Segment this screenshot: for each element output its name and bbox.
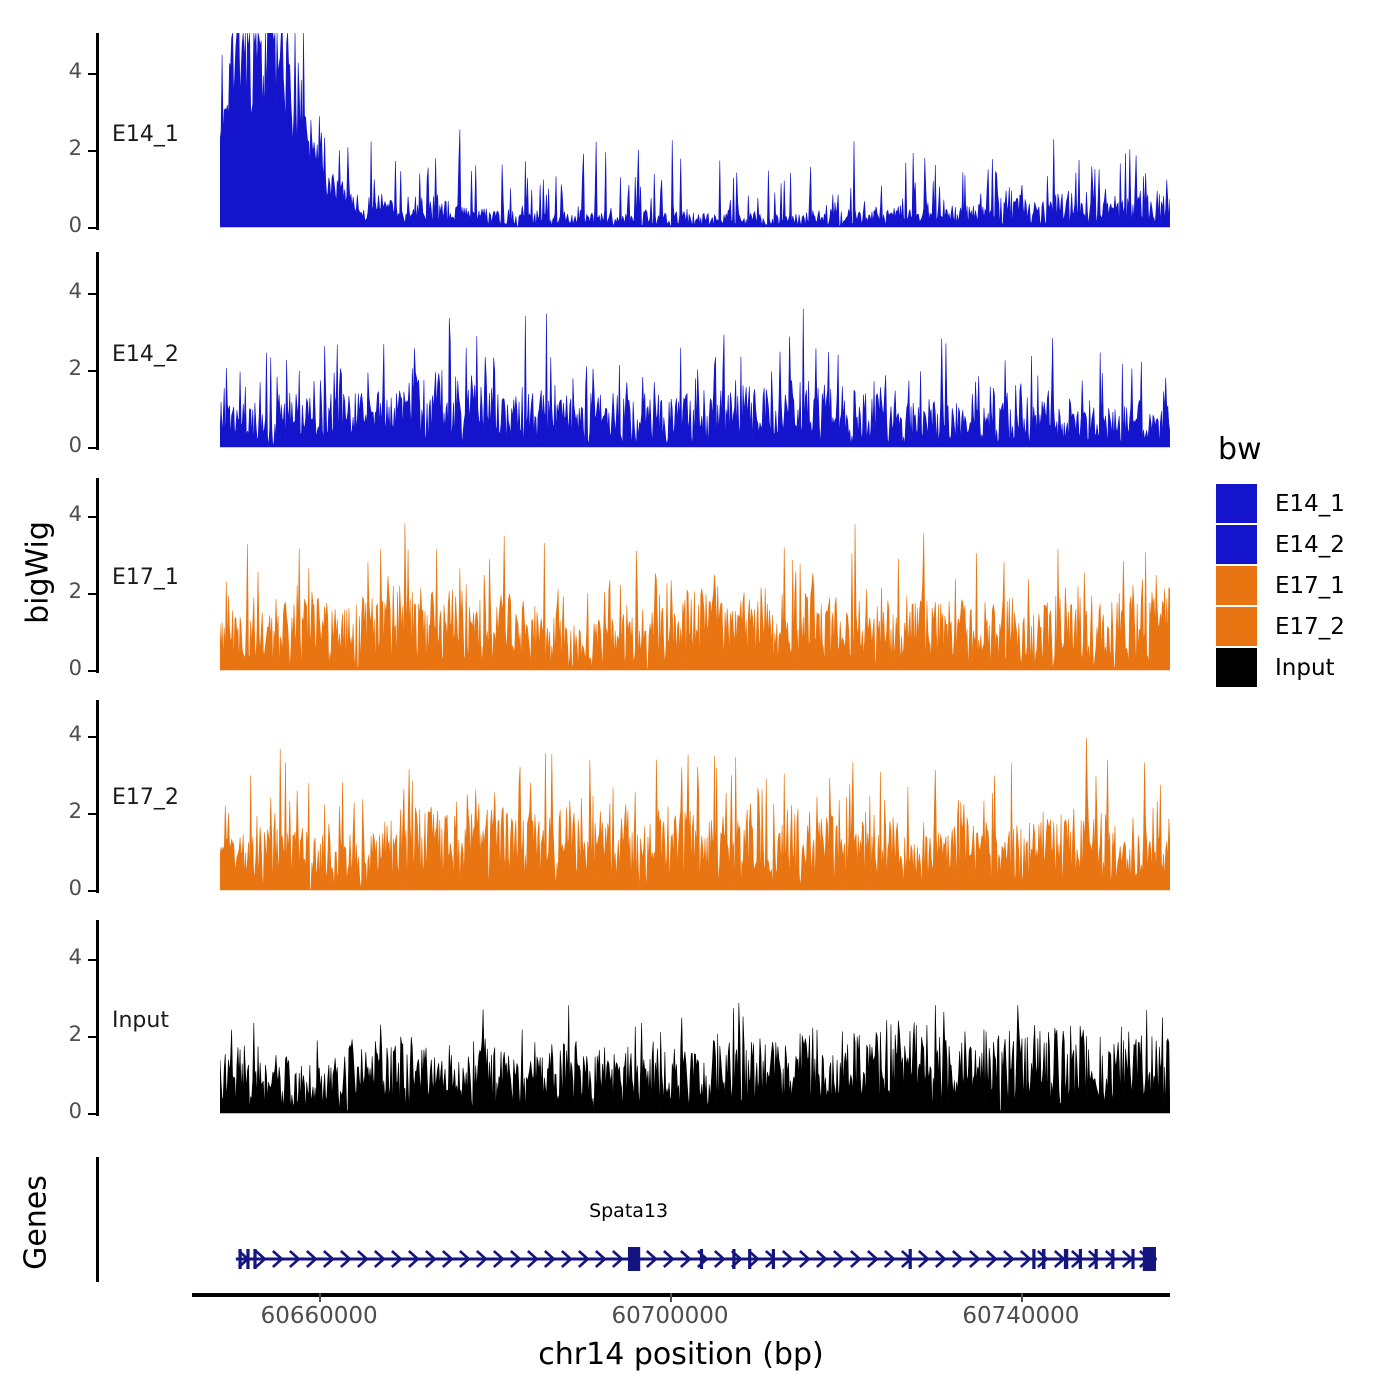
coverage-area-e14_2[interactable] [220, 252, 1170, 449]
y-tick-e17_1-4 [88, 516, 97, 518]
x-tick-label-2: 60740000 [931, 1303, 1111, 1329]
y-tick-input-4 [88, 959, 97, 961]
legend-swatch-input [1216, 648, 1257, 687]
x-tick-0 [319, 1293, 321, 1302]
legend-label-e17_1: E17_1 [1275, 573, 1345, 599]
track-label-e17_1: E17_1 [112, 565, 179, 590]
y-axis-line-e14_1 [96, 33, 99, 230]
y-tick-label-e14_2-0: 0 [36, 435, 82, 456]
legend: bw E14_1E14_2E17_1E17_2Input [1216, 432, 1345, 688]
y-tick-label-e17_1-4: 4 [36, 504, 82, 525]
y-axis-line-e17_2 [96, 700, 99, 893]
y-tick-label-e14_1-0: 0 [36, 215, 82, 236]
track-label-e14_2: E14_2 [112, 342, 179, 367]
track-label-e14_1: E14_1 [112, 122, 179, 147]
y-tick-e17_2-0 [88, 890, 97, 892]
legend-swatch-e17_1 [1216, 566, 1257, 605]
y-axis-line-e14_2 [96, 252, 99, 450]
gene-model-track[interactable] [192, 1160, 1170, 1282]
legend-item-e14_2[interactable]: E14_2 [1216, 524, 1345, 565]
legend-label-e14_1: E14_1 [1275, 491, 1345, 517]
y-tick-e14_1-2 [88, 150, 97, 152]
track-label-e17_2: E17_2 [112, 785, 179, 810]
legend-label-input: Input [1275, 655, 1335, 681]
y-tick-label-e17_2-4: 4 [36, 724, 82, 745]
y-tick-label-e17_2-0: 0 [36, 878, 82, 899]
y-tick-label-e14_1-2: 2 [36, 138, 82, 159]
x-tick-1 [670, 1293, 672, 1302]
y-tick-label-e14_2-2: 2 [36, 358, 82, 379]
x-tick-label-1: 60700000 [580, 1303, 760, 1329]
y-tick-e14_2-0 [88, 447, 97, 449]
track-label-input: Input [112, 1008, 169, 1033]
x-tick-2 [1021, 1293, 1023, 1302]
y-tick-e17_2-2 [88, 813, 97, 815]
y-tick-label-e17_1-2: 2 [36, 581, 82, 602]
y-tick-label-input-4: 4 [36, 947, 82, 968]
y-tick-e17_2-4 [88, 736, 97, 738]
y-tick-label-e17_2-2: 2 [36, 801, 82, 822]
legend-items: E14_1E14_2E17_1E17_2Input [1216, 483, 1345, 688]
legend-title: bw [1218, 432, 1345, 467]
y-tick-label-e14_2-4: 4 [36, 281, 82, 302]
y-tick-e14_1-4 [88, 73, 97, 75]
y-tick-e17_1-2 [88, 593, 97, 595]
legend-label-e14_2: E14_2 [1275, 532, 1345, 558]
legend-swatch-e14_2 [1216, 525, 1257, 564]
y-tick-e17_1-0 [88, 670, 97, 672]
x-axis-line [192, 1293, 1170, 1297]
legend-item-e17_1[interactable]: E17_1 [1216, 565, 1345, 606]
y-tick-label-input-2: 2 [36, 1024, 82, 1045]
y-tick-input-0 [88, 1113, 97, 1115]
legend-swatch-e14_1 [1216, 484, 1257, 523]
legend-label-e17_2: E17_2 [1275, 614, 1345, 640]
y-tick-label-e17_1-0: 0 [36, 658, 82, 679]
legend-item-e14_1[interactable]: E14_1 [1216, 483, 1345, 524]
y-tick-label-input-0: 0 [36, 1101, 82, 1122]
coverage-area-e17_1[interactable] [220, 478, 1170, 672]
genes-axis-line [96, 1157, 99, 1282]
y-tick-label-e14_1-4: 4 [36, 61, 82, 82]
y-axis-line-e17_1 [96, 478, 99, 673]
legend-item-input[interactable]: Input [1216, 647, 1345, 688]
genes-axis-title: Genes [19, 1163, 54, 1283]
y-tick-e14_2-4 [88, 293, 97, 295]
legend-swatch-e17_2 [1216, 607, 1257, 646]
y-tick-e14_1-0 [88, 227, 97, 229]
y-tick-e14_2-2 [88, 370, 97, 372]
y-axis-line-input [96, 920, 99, 1116]
coverage-area-e14_1[interactable] [220, 33, 1170, 229]
legend-item-e17_2[interactable]: E17_2 [1216, 606, 1345, 647]
coverage-area-input[interactable] [220, 920, 1170, 1115]
x-tick-label-0: 60660000 [229, 1303, 409, 1329]
y-tick-input-2 [88, 1036, 97, 1038]
x-axis-title: chr14 position (bp) [192, 1337, 1170, 1372]
coverage-area-e17_2[interactable] [220, 700, 1170, 892]
